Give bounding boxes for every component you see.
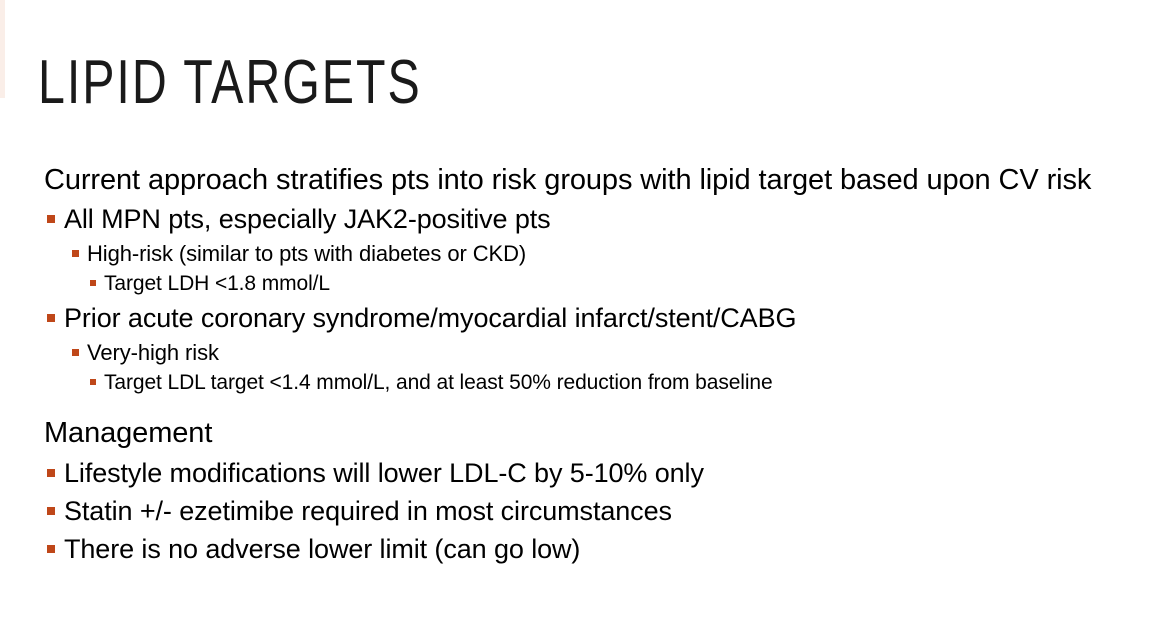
square-bullet-icon: [72, 250, 79, 257]
list-item-label: High-risk (similar to pts with diabetes …: [87, 239, 1162, 268]
section-spacer: [0, 397, 1162, 415]
list-item: Target LDL target <1.4 mmol/L, and at le…: [0, 369, 1162, 397]
page-title: LIPID TARGETS: [38, 48, 422, 118]
lead-paragraph: Current approach stratifies pts into ris…: [0, 162, 1162, 199]
list-item: Statin +/- ezetimibe required in most ci…: [0, 494, 1162, 528]
list-item-label: Prior acute coronary syndrome/myocardial…: [64, 301, 1162, 335]
square-bullet-icon: [90, 280, 96, 286]
list-item: There is no adverse lower limit (can go …: [0, 532, 1162, 566]
list-item-label: Statin +/- ezetimibe required in most ci…: [64, 494, 1162, 528]
square-bullet-icon: [47, 507, 55, 515]
list-item: All MPN pts, especially JAK2-positive pt…: [0, 202, 1162, 236]
square-bullet-icon: [47, 215, 55, 223]
management-heading: Management: [0, 415, 1162, 452]
list-item-label: Lifestyle modifications will lower LDL-C…: [64, 456, 1162, 490]
square-bullet-icon: [47, 545, 55, 553]
square-bullet-icon: [47, 469, 55, 477]
list-item: Prior acute coronary syndrome/myocardial…: [0, 301, 1162, 335]
square-bullet-icon: [90, 379, 96, 385]
title-accent-strip: [0, 0, 5, 98]
list-item-label: Target LDL target <1.4 mmol/L, and at le…: [104, 369, 1162, 397]
list-item: High-risk (similar to pts with diabetes …: [0, 239, 1162, 268]
list-item: Very-high risk: [0, 338, 1162, 367]
risk-groups-list: All MPN pts, especially JAK2-positive pt…: [0, 202, 1162, 397]
list-item: Target LDH <1.8 mmol/L: [0, 270, 1162, 298]
list-item-label: There is no adverse lower limit (can go …: [64, 532, 1162, 566]
square-bullet-icon: [72, 349, 79, 356]
slide-body: Current approach stratifies pts into ris…: [0, 162, 1162, 566]
list-item-label: All MPN pts, especially JAK2-positive pt…: [64, 202, 1162, 236]
list-item-label: Very-high risk: [87, 338, 1162, 367]
square-bullet-icon: [47, 314, 55, 322]
list-item-label: Target LDH <1.8 mmol/L: [104, 270, 1162, 298]
management-list: Lifestyle modifications will lower LDL-C…: [0, 456, 1162, 566]
list-item: Lifestyle modifications will lower LDL-C…: [0, 456, 1162, 490]
